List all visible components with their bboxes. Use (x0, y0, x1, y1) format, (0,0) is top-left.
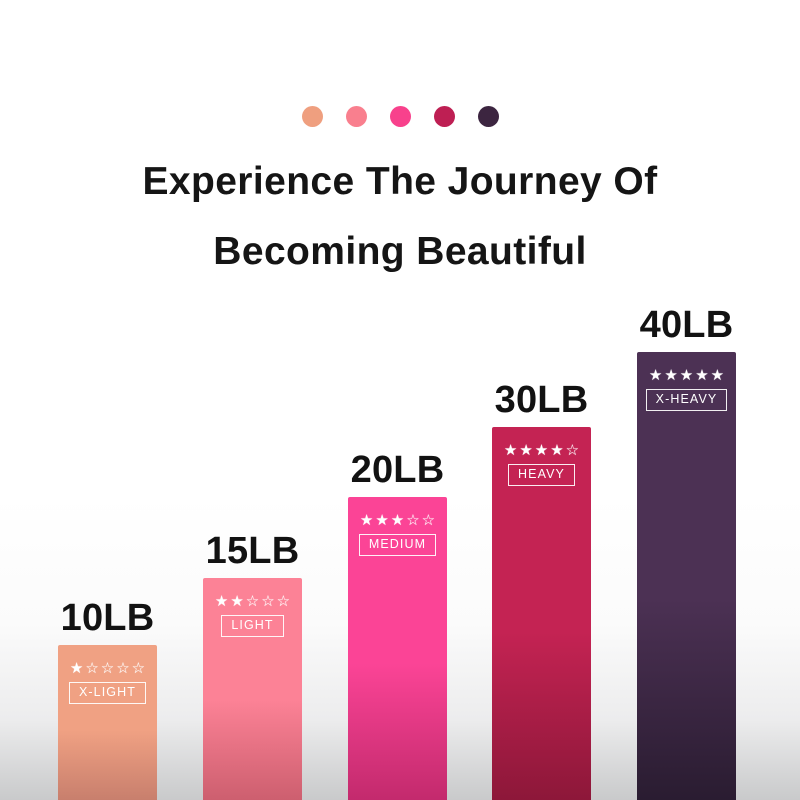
bar-15lb-weight-label: 15LB (203, 532, 302, 570)
star-empty-icon: ☆ (101, 661, 114, 676)
star-filled-icon: ★ (70, 661, 83, 676)
bar-10lb-badge: ★☆☆☆☆X-LIGHT (58, 661, 157, 704)
star-empty-icon: ☆ (85, 661, 98, 676)
star-empty-icon: ☆ (261, 594, 274, 609)
star-filled-icon: ★ (504, 443, 517, 458)
star-filled-icon: ★ (391, 513, 404, 528)
bar-20lb-badge: ★★★☆☆MEDIUM (348, 513, 447, 556)
bar-30lb-star-rating: ★★★★☆ (504, 443, 579, 458)
star-empty-icon: ☆ (406, 513, 419, 528)
bar-15lb-star-rating: ★★☆☆☆ (215, 594, 290, 609)
star-empty-icon: ☆ (422, 513, 435, 528)
star-filled-icon: ★ (680, 368, 693, 383)
bar-15lb[interactable]: 15LB★★☆☆☆LIGHT (203, 578, 302, 800)
infographic-canvas: Experience The Journey Of Becoming Beaut… (0, 0, 800, 800)
bar-15lb-tier-label: LIGHT (221, 615, 283, 637)
bar-10lb[interactable]: 10LB★☆☆☆☆X-LIGHT (58, 645, 157, 800)
bar-40lb-weight-label: 40LB (637, 306, 736, 344)
star-empty-icon: ☆ (132, 661, 145, 676)
star-empty-icon: ☆ (277, 594, 290, 609)
bar-10lb-tier-label: X-LIGHT (69, 682, 146, 704)
star-filled-icon: ★ (664, 368, 677, 383)
star-filled-icon: ★ (695, 368, 708, 383)
bar-20lb[interactable]: 20LB★★★☆☆MEDIUM (348, 497, 447, 800)
bar-30lb-tier-label: HEAVY (508, 464, 575, 486)
bar-40lb-tier-label: X-HEAVY (646, 389, 728, 411)
bar-40lb-fill (637, 352, 736, 800)
star-filled-icon: ★ (360, 513, 373, 528)
star-filled-icon: ★ (535, 443, 548, 458)
bar-30lb-badge: ★★★★☆HEAVY (492, 443, 591, 486)
resistance-bar-chart: 10LB★☆☆☆☆X-LIGHT15LB★★☆☆☆LIGHT20LB★★★☆☆M… (0, 0, 800, 800)
star-filled-icon: ★ (230, 594, 243, 609)
bar-20lb-star-rating: ★★★☆☆ (360, 513, 435, 528)
star-filled-icon: ★ (550, 443, 563, 458)
bar-20lb-weight-label: 20LB (348, 451, 447, 489)
bar-20lb-tier-label: MEDIUM (359, 534, 436, 556)
star-filled-icon: ★ (649, 368, 662, 383)
bar-30lb[interactable]: 30LB★★★★☆HEAVY (492, 427, 591, 800)
bar-10lb-weight-label: 10LB (58, 599, 157, 637)
star-filled-icon: ★ (375, 513, 388, 528)
star-filled-icon: ★ (519, 443, 532, 458)
bar-10lb-star-rating: ★☆☆☆☆ (70, 661, 145, 676)
bar-40lb-badge: ★★★★★X-HEAVY (637, 368, 736, 411)
bar-40lb-star-rating: ★★★★★ (649, 368, 724, 383)
star-empty-icon: ☆ (566, 443, 579, 458)
star-empty-icon: ☆ (116, 661, 129, 676)
bar-15lb-badge: ★★☆☆☆LIGHT (203, 594, 302, 637)
bar-30lb-weight-label: 30LB (492, 381, 591, 419)
star-empty-icon: ☆ (246, 594, 259, 609)
bar-40lb[interactable]: 40LB★★★★★X-HEAVY (637, 352, 736, 800)
star-filled-icon: ★ (215, 594, 228, 609)
star-filled-icon: ★ (711, 368, 724, 383)
